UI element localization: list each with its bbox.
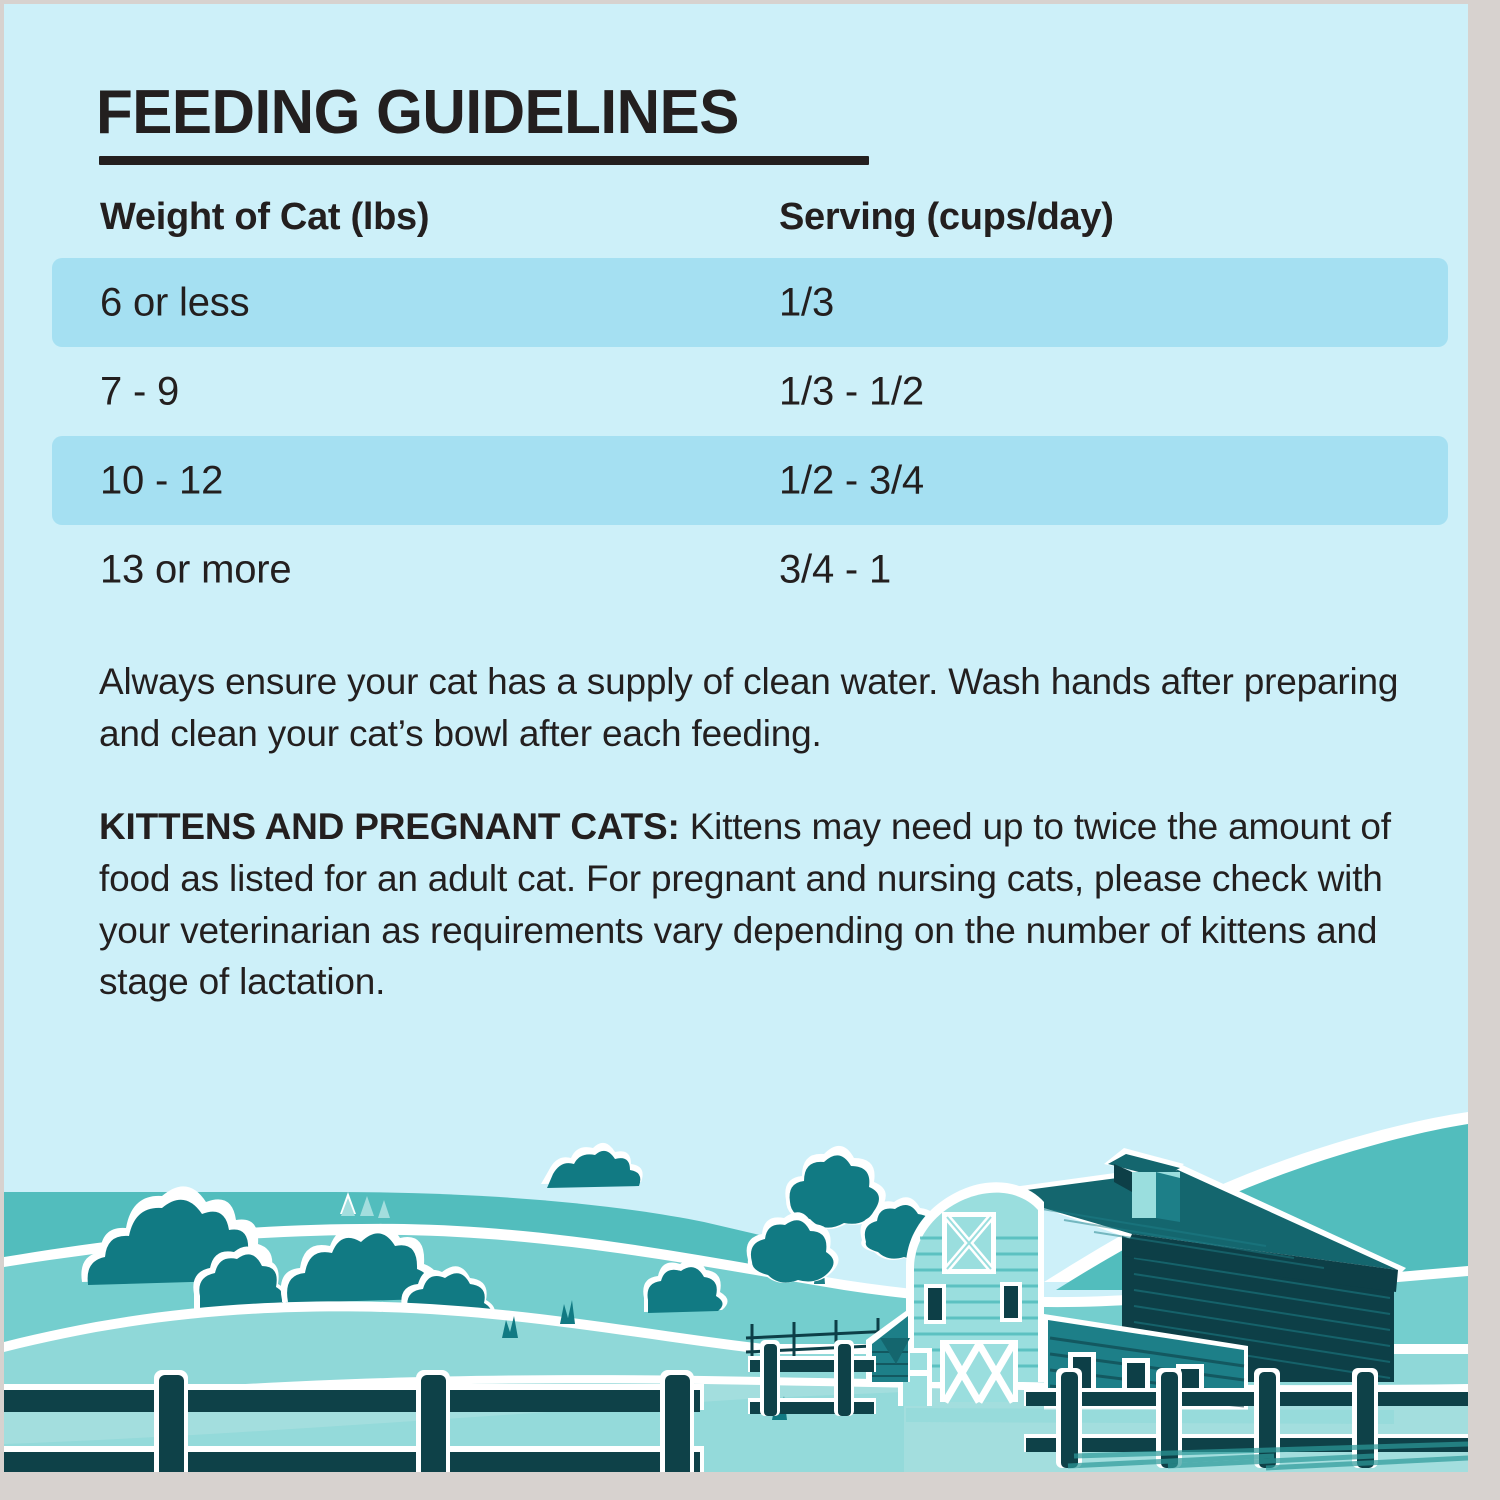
table-row: 6 or less 1/3: [52, 258, 1448, 347]
barn-loft-door: [942, 1212, 996, 1274]
fence-rail-bottom: [4, 1452, 700, 1472]
column-header-weight: Weight of Cat (lbs): [100, 196, 429, 239]
cell-serving: 1/3: [779, 280, 834, 325]
table-row: 10 - 12 1/2 - 3/4: [52, 436, 1448, 525]
page-root: FEEDING GUIDELINES Weight of Cat (lbs) S…: [0, 0, 1500, 1500]
kittens-note: KITTENS AND PREGNANT CATS: Kittens may n…: [99, 801, 1419, 1008]
cell-serving: 1/3 - 1/2: [779, 369, 924, 414]
column-header-serving: Serving (cups/day): [779, 196, 1114, 239]
cell-weight: 7 - 9: [100, 369, 179, 414]
farm-scene-svg: [4, 1052, 1468, 1472]
cell-weight: 6 or less: [100, 280, 249, 325]
table-header-row: Weight of Cat (lbs) Serving (cups/day): [52, 196, 1448, 258]
title-underline: [99, 156, 869, 165]
feeding-table: Weight of Cat (lbs) Serving (cups/day) 6…: [52, 196, 1448, 614]
kittens-note-label: KITTENS AND PREGNANT CATS:: [99, 806, 680, 847]
paddock-rail-top: [1026, 1392, 1468, 1406]
barn: [866, 1148, 1406, 1410]
cell-serving: 1/2 - 3/4: [779, 458, 924, 503]
table-row: 13 or more 3/4 - 1: [52, 525, 1448, 614]
feeding-guidelines-panel: FEEDING GUIDELINES Weight of Cat (lbs) S…: [4, 4, 1468, 1472]
cell-weight: 10 - 12: [100, 458, 223, 503]
barn-ground-shadow: [906, 1408, 1394, 1424]
page-title: FEEDING GUIDELINES: [96, 82, 739, 144]
cell-weight: 13 or more: [100, 547, 291, 592]
cell-serving: 3/4 - 1: [779, 547, 891, 592]
fence-rail-top: [4, 1390, 700, 1412]
barn-main-door: [940, 1340, 1018, 1402]
farm-illustration: [4, 1052, 1468, 1472]
table-row: 7 - 9 1/3 - 1/2: [52, 347, 1448, 436]
water-note: Always ensure your cat has a supply of c…: [99, 656, 1419, 760]
